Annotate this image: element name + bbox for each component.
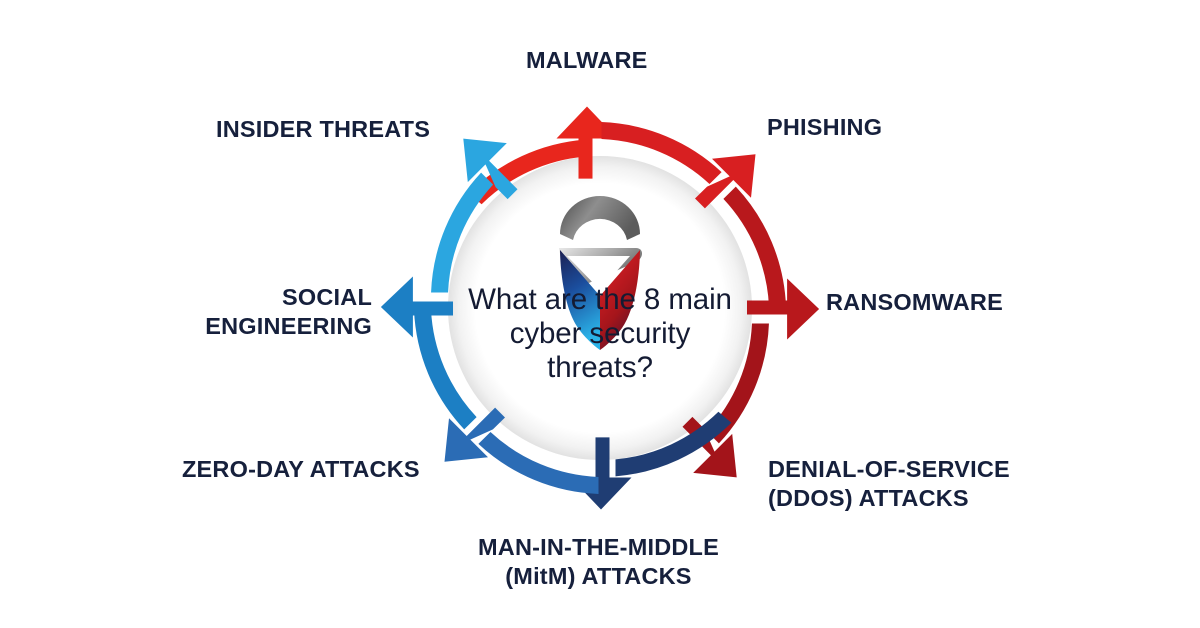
- label-malware-text: MALWARE: [526, 46, 648, 75]
- label-ddos-line-2: (DDOS) ATTACKS: [768, 484, 1010, 513]
- label-phishing-text: PHISHING: [767, 113, 882, 142]
- label-ransomware-text: RANSOMWARE: [826, 288, 1003, 317]
- center-question: What are the 8 main cyber security threa…: [455, 283, 745, 385]
- label-mitm: MAN-IN-THE-MIDDLE (MitM) ATTACKS: [478, 533, 719, 591]
- label-ddos: DENIAL-OF-SERVICE (DDOS) ATTACKS: [768, 455, 1010, 513]
- label-social-line-1: SOCIAL: [172, 283, 372, 312]
- label-social-engineering: SOCIAL ENGINEERING: [172, 283, 372, 341]
- label-social-line-2: ENGINEERING: [172, 312, 372, 341]
- center-question-line-2: cyber security: [455, 317, 745, 351]
- label-zeroday: ZERO-DAY ATTACKS: [182, 455, 420, 484]
- label-zeroday-text: ZERO-DAY ATTACKS: [182, 455, 420, 484]
- label-insider-text: INSIDER THREATS: [216, 115, 430, 144]
- label-phishing: PHISHING: [767, 113, 882, 142]
- label-insider-threats: INSIDER THREATS: [216, 115, 430, 144]
- center-question-line-1: What are the 8 main: [455, 283, 745, 317]
- label-malware: MALWARE: [526, 46, 648, 75]
- cyber-threats-infographic: What are the 8 main cyber security threa…: [0, 0, 1200, 628]
- label-mitm-line-2: (MitM) ATTACKS: [478, 562, 719, 591]
- label-mitm-line-1: MAN-IN-THE-MIDDLE: [478, 533, 719, 562]
- label-ddos-line-1: DENIAL-OF-SERVICE: [768, 455, 1010, 484]
- label-ransomware: RANSOMWARE: [826, 288, 1003, 317]
- center-question-line-3: threats?: [455, 351, 745, 385]
